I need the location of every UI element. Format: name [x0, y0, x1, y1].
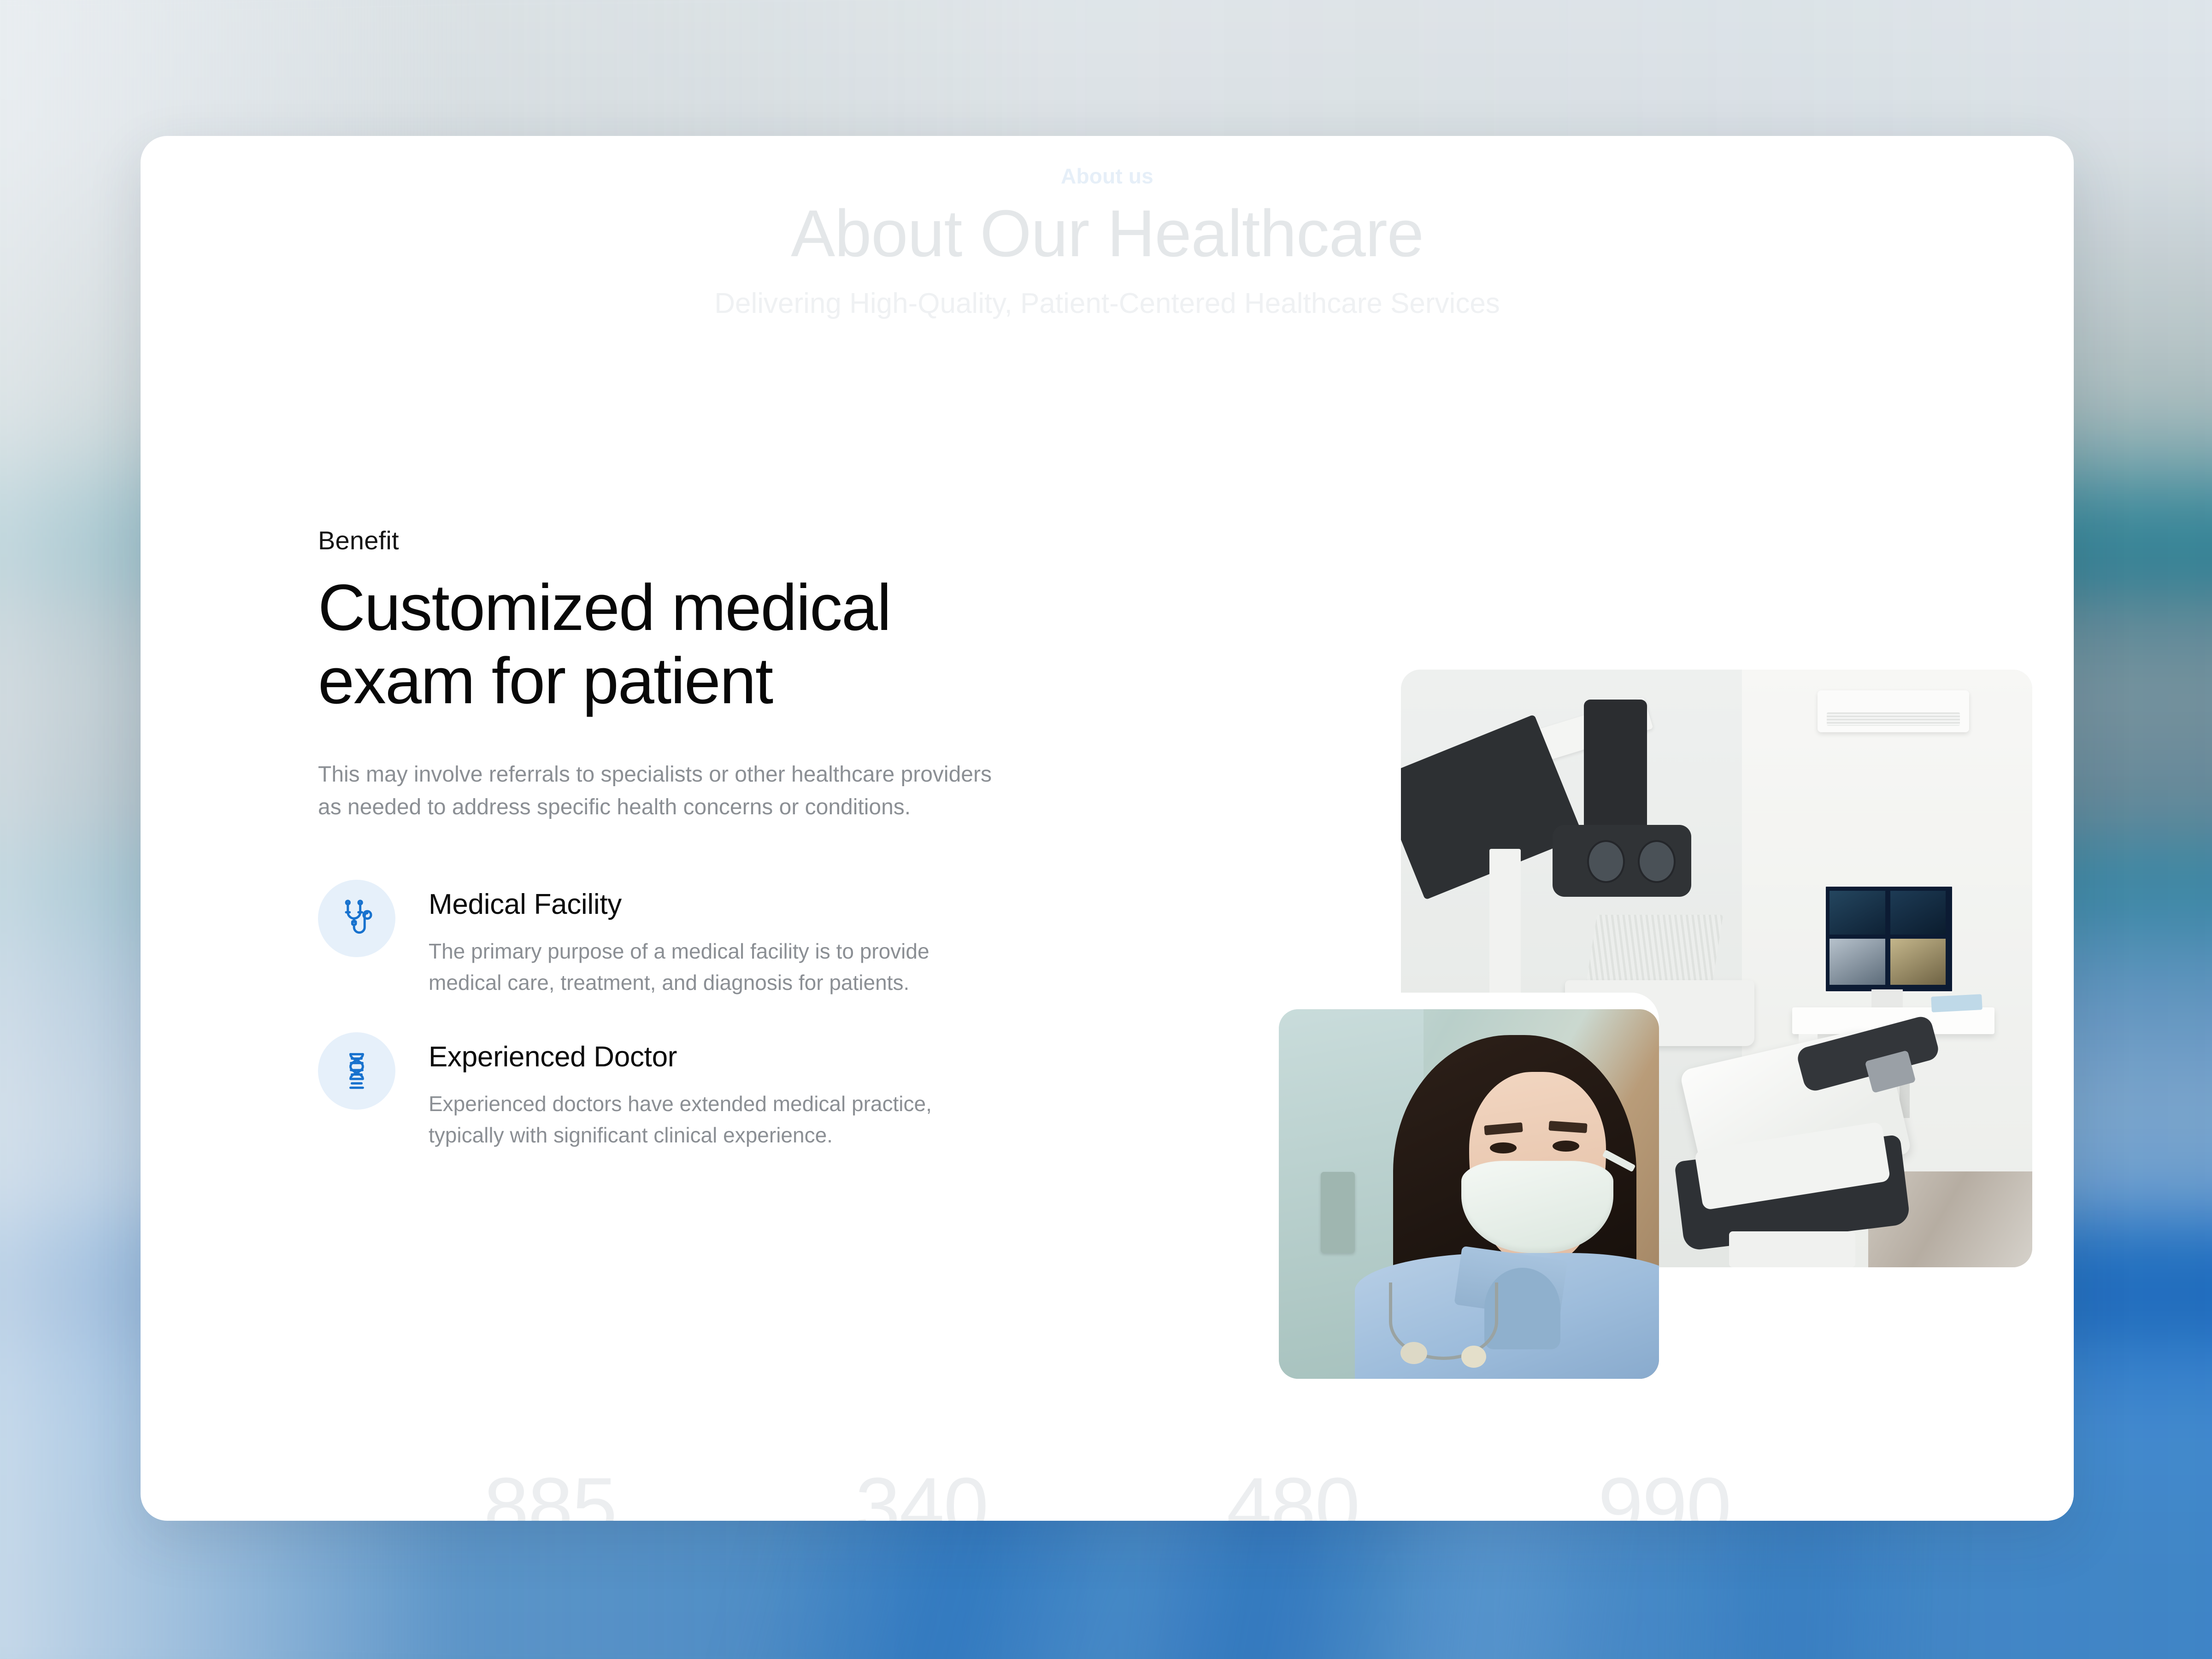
stat-value-2: 340	[846, 1460, 998, 1521]
stat-value-3: 480	[1217, 1460, 1369, 1521]
feature-description: Experienced doctors have extended medica…	[429, 1088, 995, 1151]
doctor-portrait	[1279, 1009, 1659, 1379]
feature-text: Medical Facility The primary purpose of …	[429, 880, 995, 998]
feature-text: Experienced Doctor Experienced doctors h…	[429, 1032, 995, 1151]
stat-value-4: 990	[1588, 1460, 1741, 1521]
about-card: About us About Our Healthcare Delivering…	[141, 136, 2074, 1521]
stat-row: 885 340 480 990	[141, 1460, 2074, 1521]
doctor-photo	[1279, 1009, 1659, 1379]
benefit-headline-line-1: Customized medical	[318, 571, 1065, 644]
feature-list: Medical Facility The primary purpose of …	[318, 880, 1065, 1151]
page-root: About us About Our Healthcare Delivering…	[0, 0, 2212, 1659]
stethoscope-icon	[318, 880, 395, 957]
benefit-headline: Customized medical exam for patient	[318, 571, 1065, 718]
xray-monitor	[1824, 885, 1954, 993]
feature-item-medical-facility: Medical Facility The primary purpose of …	[318, 880, 1065, 998]
microscope-body	[1584, 700, 1647, 843]
content-columns: Benefit Customized medical exam for pati…	[141, 136, 2074, 1521]
stat-value-1: 885	[474, 1460, 626, 1521]
benefit-headline-line-2: exam for patient	[318, 644, 1065, 718]
benefit-column: Benefit Customized medical exam for pati…	[318, 525, 1065, 1185]
feature-item-experienced-doctor: Experienced Doctor Experienced doctors h…	[318, 1032, 1065, 1151]
feature-title: Experienced Doctor	[429, 1041, 995, 1073]
benefit-kicker: Benefit	[318, 525, 1065, 555]
benefit-description: This may involve referrals to specialist…	[318, 758, 1018, 824]
dna-icon	[318, 1032, 395, 1110]
air-conditioner	[1818, 690, 1969, 732]
feature-description: The primary purpose of a medical facilit…	[429, 935, 995, 998]
feature-title: Medical Facility	[429, 888, 995, 921]
